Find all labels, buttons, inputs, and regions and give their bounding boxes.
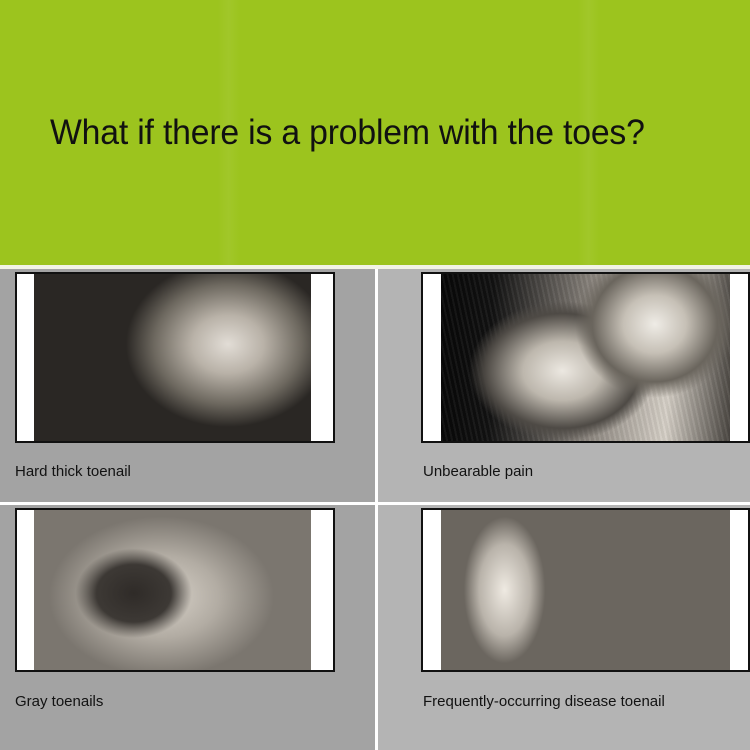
unbearable-pain-photo xyxy=(441,274,730,441)
photo-frame xyxy=(421,272,750,443)
header-banner: What if there is a problem with the toes… xyxy=(0,0,750,265)
frequently-occurring-disease-toenail-photo xyxy=(441,510,730,670)
gray-toenails-photo xyxy=(34,510,311,670)
image-grid: Hard thick toenail Unbearable pain Gray … xyxy=(0,269,750,750)
card-gray-toenails[interactable]: Gray toenails xyxy=(0,505,375,750)
photo-frame xyxy=(15,272,335,443)
page-title: What if there is a problem with the toes… xyxy=(50,111,687,155)
photo-frame xyxy=(421,508,750,672)
card-caption: Gray toenails xyxy=(15,693,103,711)
hard-thick-toenail-photo xyxy=(34,274,311,441)
card-unbearable-pain[interactable]: Unbearable pain xyxy=(378,269,750,502)
card-caption: Unbearable pain xyxy=(423,463,533,481)
card-frequently-occurring-disease-toenail[interactable]: Frequently-occurring disease toenail xyxy=(378,505,750,750)
photo-frame xyxy=(15,508,335,672)
card-hard-thick-toenail[interactable]: Hard thick toenail xyxy=(0,269,375,502)
slide-root: What if there is a problem with the toes… xyxy=(0,0,750,750)
card-caption: Hard thick toenail xyxy=(15,463,131,481)
card-caption: Frequently-occurring disease toenail xyxy=(423,693,665,711)
